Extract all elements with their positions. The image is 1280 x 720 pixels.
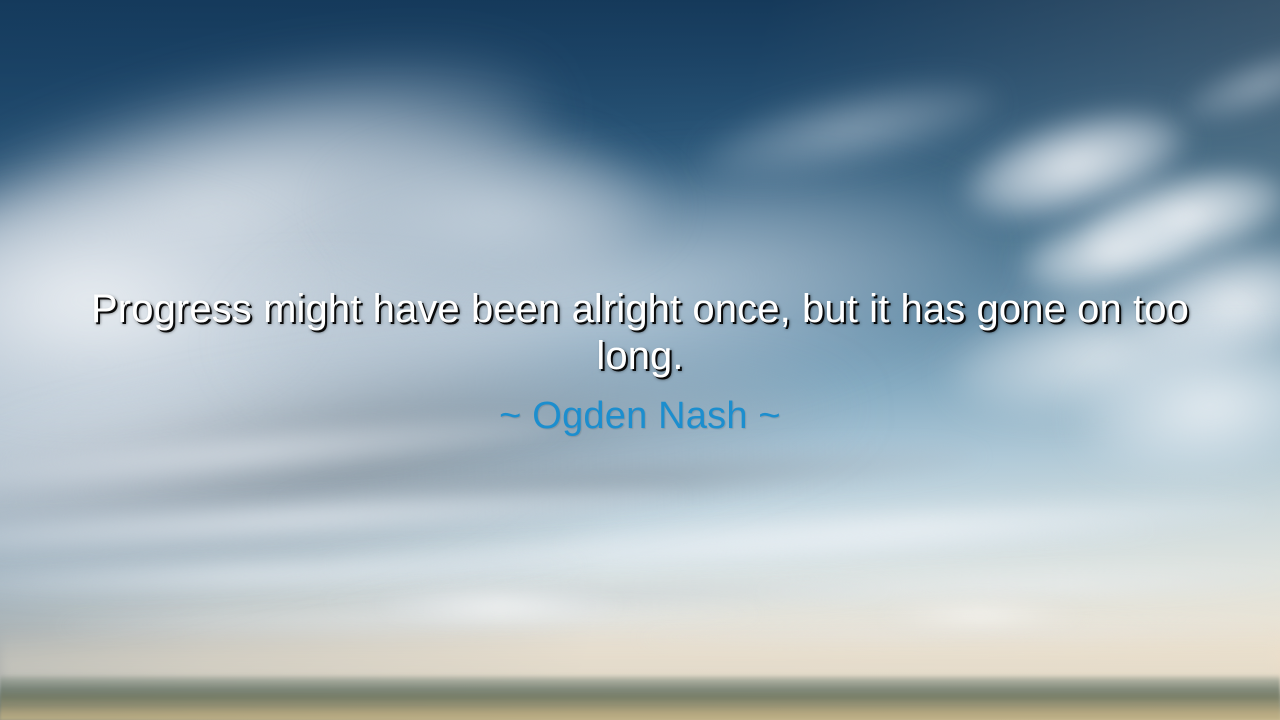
cloud-puff-center-upper: [330, 140, 670, 270]
quote-block: Progress might have been alright once, b…: [0, 286, 1280, 438]
cloud-puff-lower-center-horizon: [880, 600, 1080, 630]
cloud-wisp-right-far: [1176, 34, 1280, 136]
land-plains: [0, 674, 1280, 720]
quote-image-canvas: Progress might have been alright once, b…: [0, 0, 1280, 720]
cloud-puff-lower-left-horizon: [380, 588, 620, 624]
quote-text: Progress might have been alright once, b…: [72, 286, 1208, 380]
quote-attribution: ~ Ogden Nash ~: [72, 394, 1208, 438]
